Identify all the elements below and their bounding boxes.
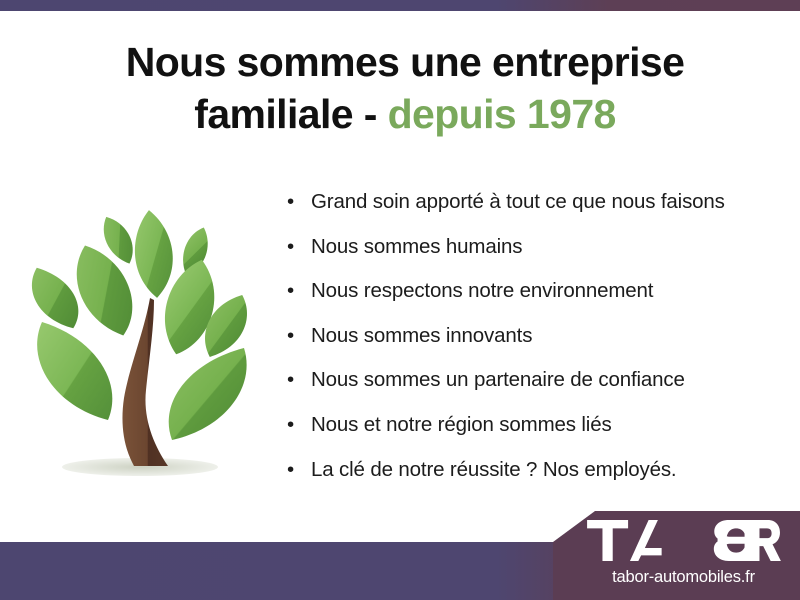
leaf-top-center: [132, 209, 176, 299]
bullet-marker: •: [287, 279, 294, 304]
bullet-marker: •: [287, 235, 294, 260]
page-title: Nous sommes une entreprise familiale - d…: [60, 36, 750, 141]
tabor-wordmark-icon: [553, 520, 800, 561]
bullet-marker: •: [287, 413, 294, 438]
list-item-label: Nous respectons notre environnement: [311, 279, 653, 302]
value-list: • Grand soin apporté à tout ce que nous …: [283, 190, 773, 482]
list-item-label: Nous sommes un partenaire de confiance: [311, 368, 685, 391]
list-item: • Nous sommes innovants: [283, 324, 773, 349]
headline-line-2-accent: depuis 1978: [388, 91, 616, 137]
leaf-far-left: [30, 264, 80, 332]
bullet-marker: •: [287, 368, 294, 393]
list-item: • La clé de notre réussite ? Nos employé…: [283, 458, 773, 483]
brand-website-url[interactable]: tabor-automobiles.fr: [553, 568, 800, 587]
list-item-label: Grand soin apporté à tout ce que nous fa…: [311, 190, 725, 213]
leaf-lower-left: [37, 322, 112, 420]
list-item-label: Nous sommes innovants: [311, 324, 532, 347]
list-item: • Nous sommes un partenaire de confiance: [283, 368, 773, 393]
list-item: • Nous respectons notre environnement: [283, 279, 773, 304]
bullet-marker: •: [287, 324, 294, 349]
slide-canvas: Nous sommes une entreprise familiale - d…: [0, 0, 800, 600]
list-item-label: La clé de notre réussite ? Nos employés.: [311, 458, 676, 481]
bullet-marker: •: [287, 458, 294, 483]
headline-line-1: Nous sommes une entreprise: [126, 39, 685, 85]
headline-line-2-plain: familiale -: [194, 91, 377, 137]
list-item-label: Nous et notre région sommes liés: [311, 413, 612, 436]
tree-illustration: [12, 182, 268, 482]
brand-logo-panel[interactable]: tabor-automobiles.fr: [553, 511, 800, 600]
top-accent-bar: [0, 0, 800, 11]
list-item: • Grand soin apporté à tout ce que nous …: [283, 190, 773, 215]
bullet-marker: •: [287, 190, 294, 215]
list-item: • Nous sommes humains: [283, 235, 773, 260]
list-item-label: Nous sommes humains: [311, 235, 522, 258]
leaf-lower-right: [169, 348, 247, 440]
list-item: • Nous et notre région sommes liés: [283, 413, 773, 438]
